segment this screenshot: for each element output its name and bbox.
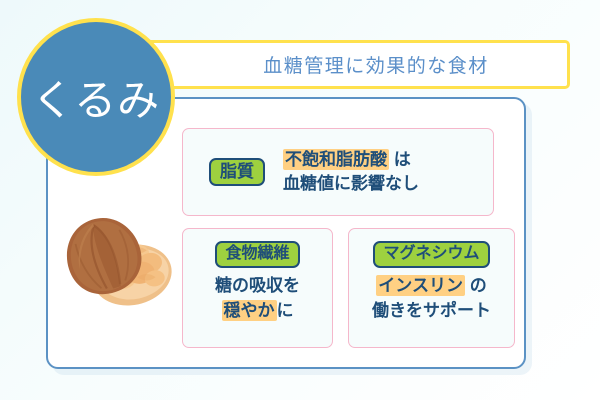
walnut-illustration	[58, 212, 178, 317]
title-ribbon: 血糖管理に効果的な食材	[140, 40, 570, 89]
card-magnesium-line-1: インスリン の	[372, 274, 491, 298]
card-dietary-fiber-line-1: 糖の吸収を	[215, 274, 300, 298]
card-fat-text: 不飽和脂肪酸 は 血糖値に影響なし	[283, 148, 419, 196]
card-dietary-fiber-line-1-plain: 糖の吸収を	[215, 276, 300, 295]
tag-dietary-fiber: 食物繊維	[215, 241, 299, 268]
page-title: 血糖管理に効果的な食材	[221, 51, 489, 78]
card-fat-line-1-plain: は	[389, 150, 411, 169]
card-dietary-fiber-text: 糖の吸収を 穏やかに	[215, 274, 300, 322]
food-name-label: くるみ	[32, 67, 160, 128]
infographic-root: 血糖管理に効果的な食材 くるみ	[0, 0, 600, 400]
card-dietary-fiber-line-2-plain: に	[277, 301, 294, 320]
food-name-badge: くるみ	[17, 18, 175, 176]
card-magnesium: マグネシウム インスリン の 働きをサポート	[348, 228, 515, 348]
card-fat: 脂質 不飽和脂肪酸 は 血糖値に影響なし	[182, 128, 494, 216]
card-magnesium-line-1-plain: の	[465, 276, 487, 295]
card-dietary-fiber-line-2: 穏やかに	[215, 299, 300, 323]
tag-fat: 脂質	[209, 158, 265, 187]
card-magnesium-line-2-plain: 働きをサポート	[372, 301, 491, 320]
highlight-gentle: 穏やか	[222, 300, 277, 321]
card-magnesium-text: インスリン の 働きをサポート	[372, 274, 491, 322]
card-fat-line-1: 不飽和脂肪酸 は	[283, 148, 419, 172]
card-fat-line-2: 血糖値に影響なし	[283, 172, 419, 196]
card-magnesium-line-2: 働きをサポート	[372, 299, 491, 323]
card-dietary-fiber: 食物繊維 糖の吸収を 穏やかに	[182, 228, 333, 348]
tag-magnesium: マグネシウム	[373, 241, 489, 268]
highlight-unsaturated-fatty-acid: 不飽和脂肪酸	[283, 149, 389, 170]
card-fat-line-2-plain: 血糖値に影響なし	[283, 174, 419, 193]
highlight-insulin: インスリン	[376, 275, 465, 296]
